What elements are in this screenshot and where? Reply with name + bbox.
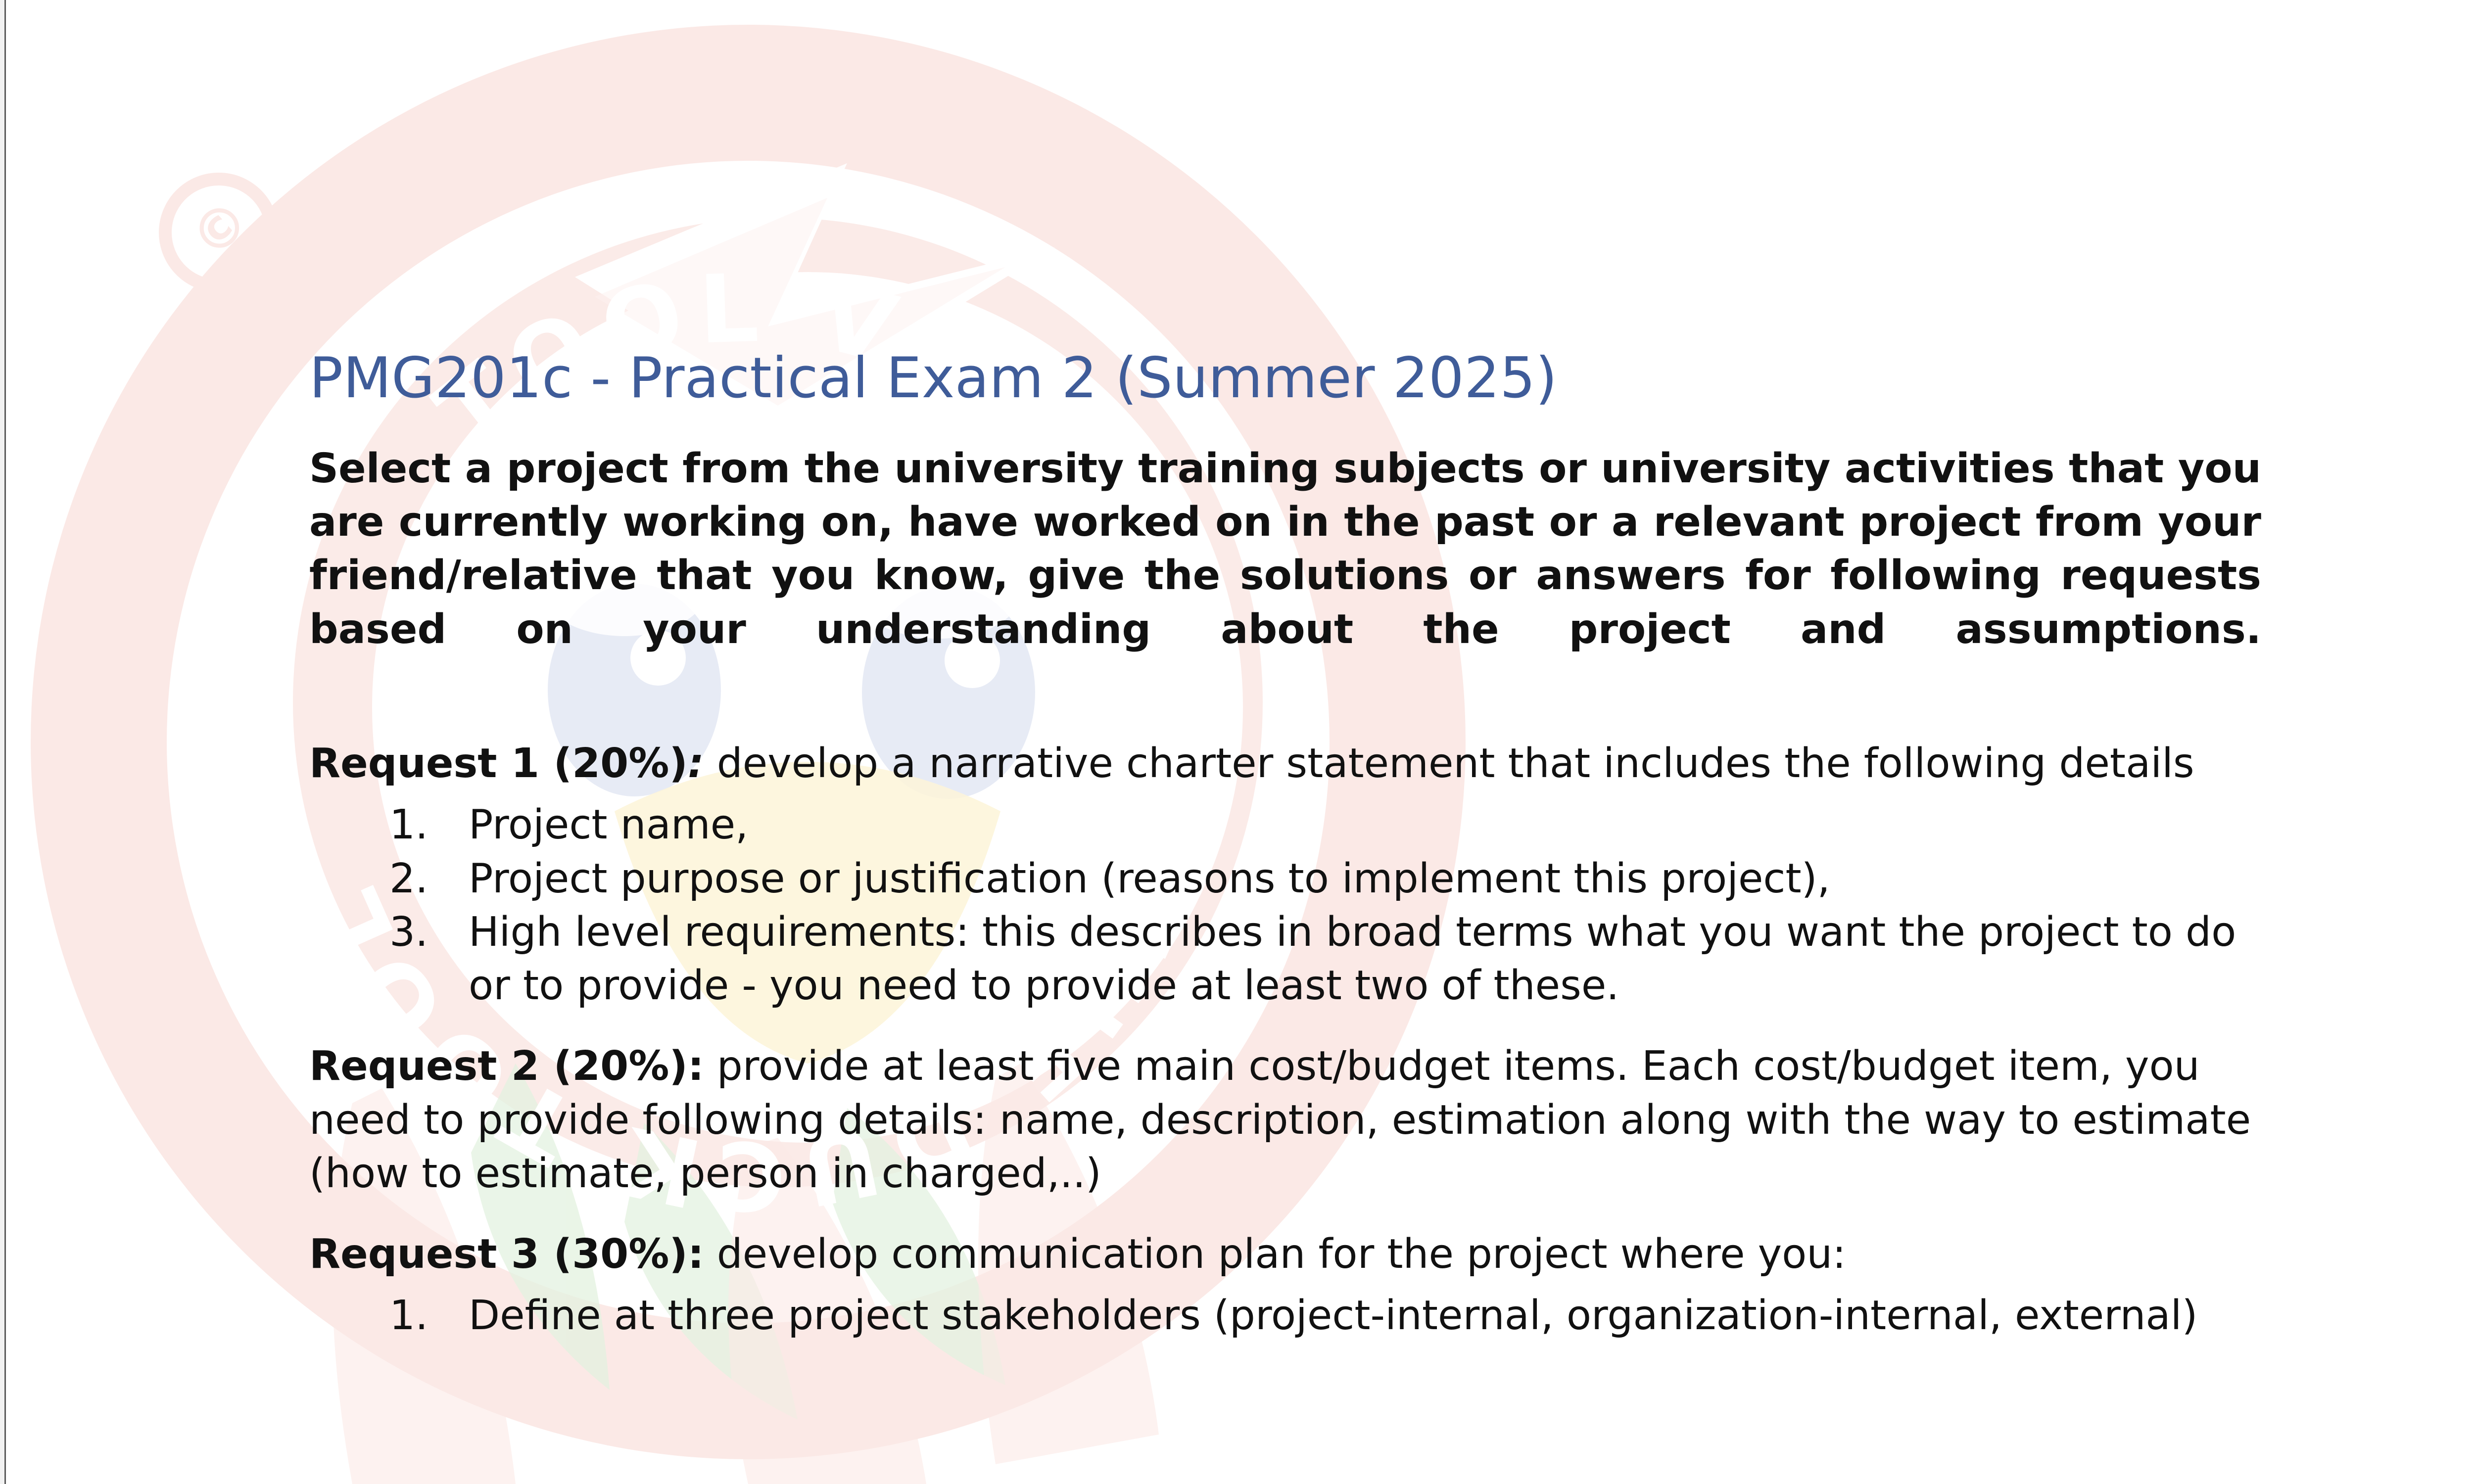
list-marker: 3. bbox=[389, 906, 444, 959]
request-2-label: Request 2 (20%) bbox=[309, 1043, 688, 1090]
request-3-body: develop communication plan for the proje… bbox=[704, 1231, 1846, 1278]
request-1-heading: Request 1 (20%): develop a narrative cha… bbox=[309, 737, 2264, 790]
list-marker: 1. bbox=[389, 798, 444, 852]
request-1-list: 1.Project name, 2.Project purpose or jus… bbox=[309, 798, 2264, 1013]
request-3-separator: : bbox=[688, 1231, 704, 1278]
page-title: PMG201c - Practical Exam 2 (Summer 2025) bbox=[309, 0, 2264, 411]
list-item-text: High level requirements: this describes … bbox=[469, 909, 2236, 1009]
list-item-text: Project purpose or justification (reason… bbox=[469, 855, 1830, 902]
watermark-copyright: © bbox=[143, 157, 294, 308]
list-item: 2.Project purpose or justification (reas… bbox=[309, 852, 2260, 906]
document-viewport: TOOL V.IT THE DUCK TOOL © PMG201c - Pr bbox=[0, 0, 2474, 1484]
list-marker: 1. bbox=[389, 1289, 444, 1343]
request-1-body: develop a narrative charter statement th… bbox=[704, 740, 2194, 787]
request-3-heading: Request 3 (30%): develop communication p… bbox=[309, 1228, 2264, 1281]
list-item-text: Define at three project stakeholders (pr… bbox=[469, 1292, 2197, 1339]
request-2-heading: Request 2 (20%): provide at least five m… bbox=[309, 1040, 2264, 1201]
list-marker: 2. bbox=[389, 852, 444, 906]
list-item: 1.Project name, bbox=[309, 798, 2260, 852]
document-page: TOOL V.IT THE DUCK TOOL © PMG201c - Pr bbox=[6, 0, 2474, 1484]
list-item: 3.High level requirements: this describe… bbox=[309, 906, 2260, 1013]
left-gutter bbox=[0, 0, 4, 1484]
document-content: PMG201c - Practical Exam 2 (Summer 2025)… bbox=[309, 0, 2264, 1343]
request-2-separator: : bbox=[688, 1043, 704, 1090]
list-item-text: Project name, bbox=[469, 801, 748, 848]
list-item: 1.Define at three project stakeholders (… bbox=[309, 1289, 2260, 1343]
request-1-separator: : bbox=[688, 740, 704, 787]
request-3-label: Request 3 (30%) bbox=[309, 1231, 688, 1278]
request-1-label: Request 1 (20%) bbox=[309, 740, 688, 787]
svg-text:©: © bbox=[179, 187, 261, 271]
request-3-list: 1.Define at three project stakeholders (… bbox=[309, 1289, 2264, 1343]
intro-paragraph: Select a project from the university tra… bbox=[309, 442, 2261, 710]
